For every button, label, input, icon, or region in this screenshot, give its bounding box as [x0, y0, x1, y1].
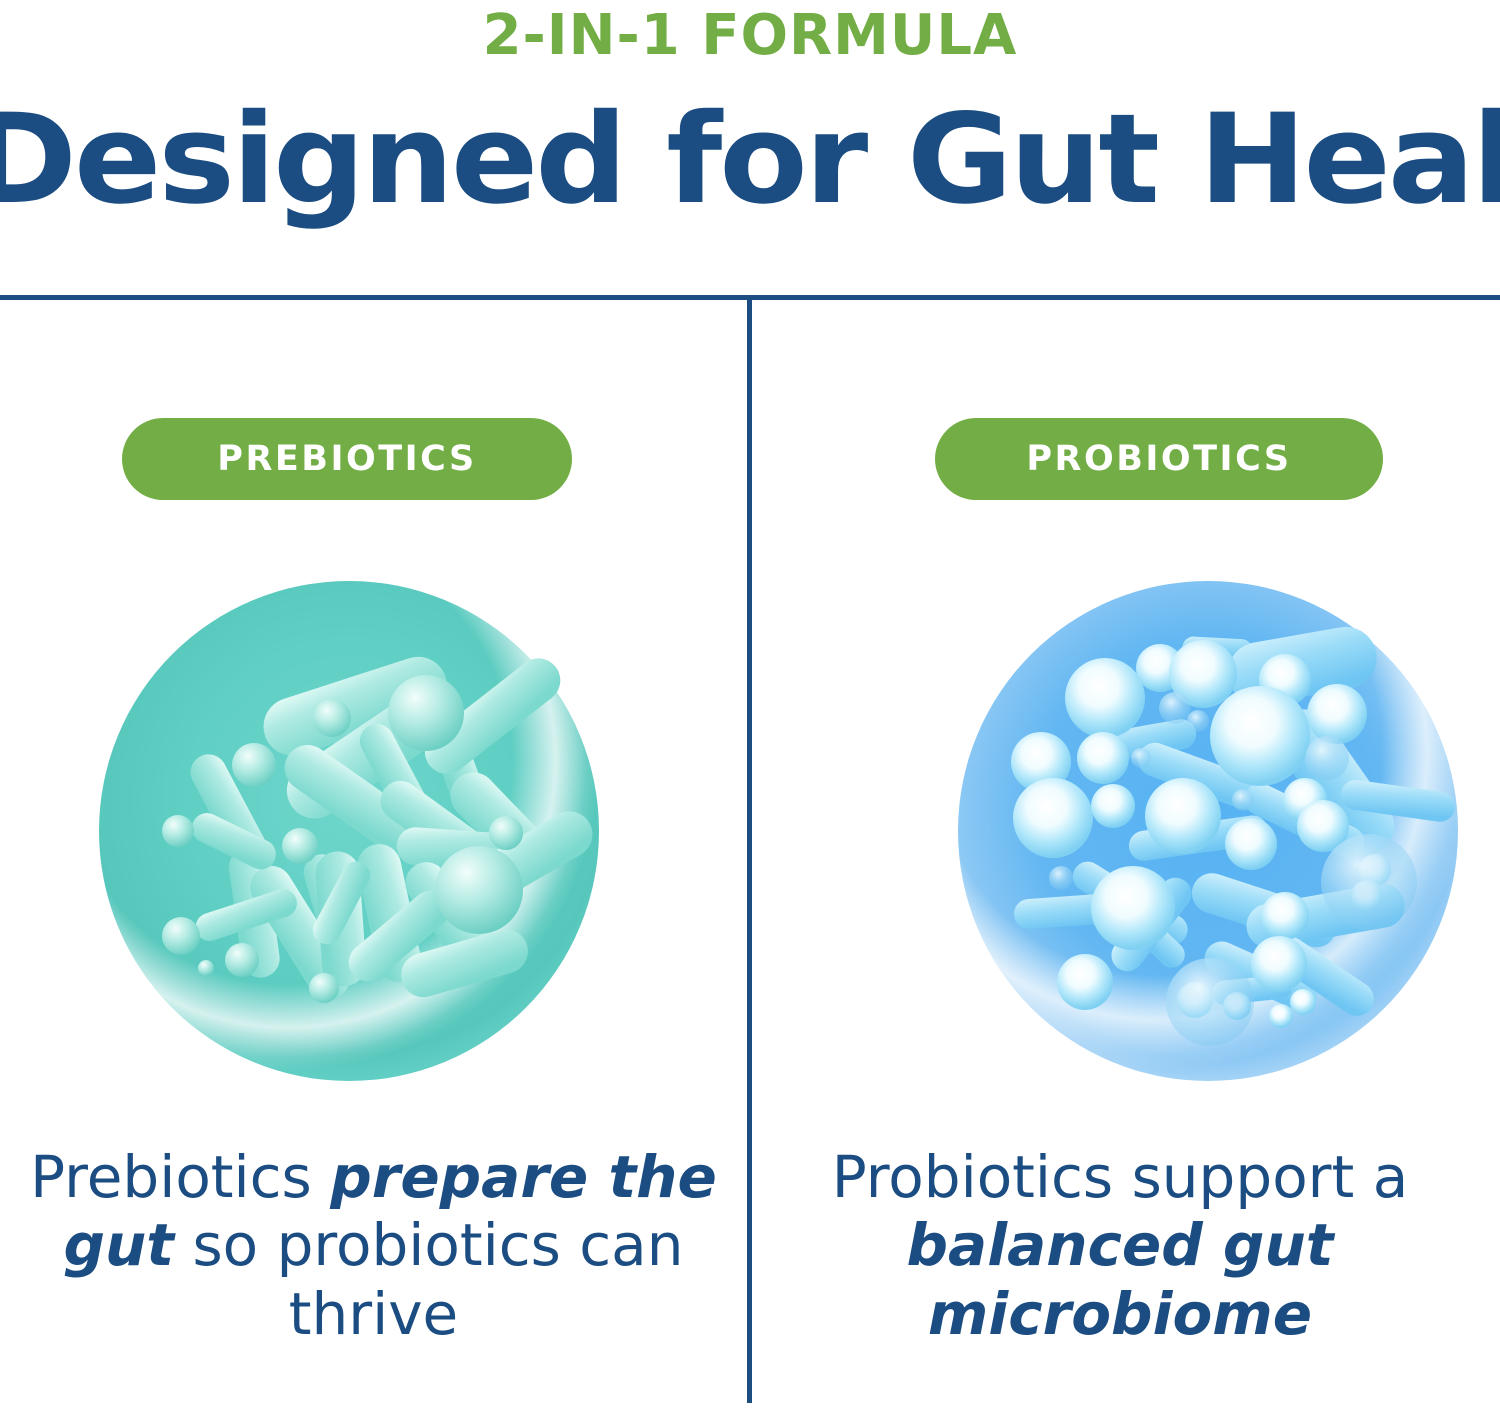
page-title: Designed for Gut Health — [0, 95, 1500, 225]
caption-prebiotics: Prebiotics prepare the gut so probiotics… — [30, 1143, 717, 1348]
probiotics-orb-icon — [955, 578, 1461, 1084]
caption-part: so probiotics can thrive — [174, 1211, 683, 1347]
caption-part: Probiotics support a — [832, 1143, 1409, 1211]
caption-probiotics: Probiotics support a balanced gut microb… — [770, 1143, 1470, 1348]
column-probiotics: PROBIOTICS — [752, 297, 1500, 1409]
prebiotics-orb-icon — [96, 578, 602, 1084]
badge-probiotics: PROBIOTICS — [935, 418, 1383, 500]
badge-prebiotics-label: PREBIOTICS — [217, 439, 476, 479]
caption-emphasis: balanced gut microbiome — [907, 1211, 1334, 1347]
caption-part: Prebiotics — [30, 1143, 330, 1211]
badge-prebiotics: PREBIOTICS — [122, 418, 572, 500]
badge-probiotics-label: PROBIOTICS — [1026, 439, 1291, 479]
eyebrow-text: 2-IN-1 FORMULA — [0, 8, 1500, 64]
column-prebiotics: PREBIOTICS — [0, 297, 747, 1409]
infographic-page: 2-IN-1 FORMULA Designed for Gut Health P… — [0, 0, 1500, 1409]
